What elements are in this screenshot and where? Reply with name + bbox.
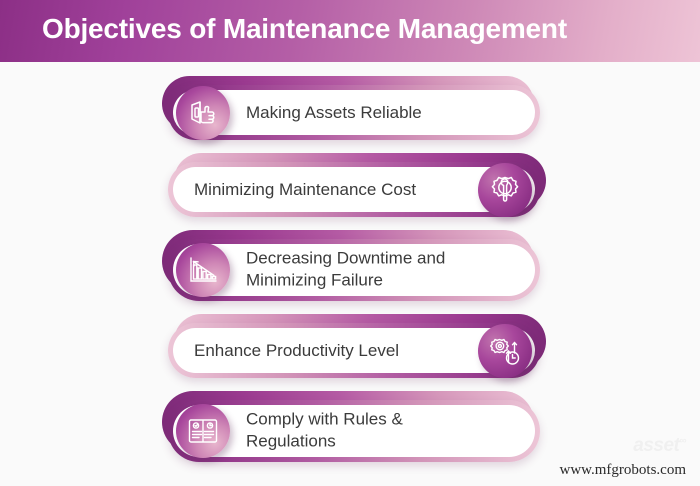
objective-label: Minimizing Maintenance Cost xyxy=(194,178,462,200)
objective-row[interactable]: Decreasing Downtime and Minimizing Failu… xyxy=(168,239,540,301)
objective-label: Comply with Rules & Regulations xyxy=(246,409,518,454)
objective-label: Enhance Productivity Level xyxy=(194,339,462,361)
site-url-watermark: www.mfgrobots.com xyxy=(559,462,686,479)
declining-bar-chart-icon xyxy=(176,243,230,297)
objective-label: Making Assets Reliable xyxy=(246,101,518,123)
objectives-list: Making Assets Reliable Minimizing Mainte… xyxy=(0,62,700,486)
asset-logo-watermark: asset∞ xyxy=(633,435,686,457)
objective-row[interactable]: Making Assets Reliable xyxy=(168,85,540,140)
objective-row[interactable]: Minimizing Maintenance Cost xyxy=(168,162,540,217)
shield-thumbs-up-icon xyxy=(176,86,230,140)
asset-logo-suffix: ∞ xyxy=(679,436,686,447)
asset-logo-text: asset xyxy=(633,435,679,456)
page-title: Objectives of Maintenance Management xyxy=(42,13,567,45)
header-banner: Objectives of Maintenance Management xyxy=(0,0,700,62)
open-book-checklist-icon xyxy=(176,404,230,458)
objective-row[interactable]: Comply with Rules & Regulations xyxy=(168,400,540,462)
gear-clock-growth-icon xyxy=(478,324,532,378)
objective-row[interactable]: Enhance Productivity Level xyxy=(168,323,540,378)
gear-wrench-icon xyxy=(478,163,532,217)
objective-label: Decreasing Downtime and Minimizing Failu… xyxy=(246,248,518,293)
